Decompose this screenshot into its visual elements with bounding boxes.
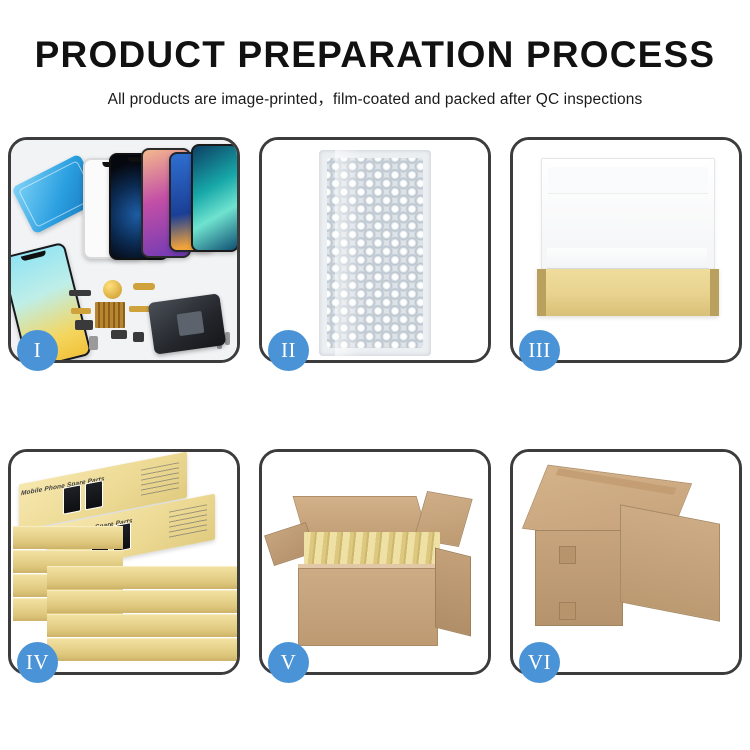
process-step-card-2: II <box>259 137 491 363</box>
step-badge-1: I <box>17 330 58 371</box>
scene-phone-screens-and-parts <box>11 140 237 360</box>
step-badge-2: II <box>268 330 309 371</box>
retail-box-side <box>47 638 237 661</box>
carton-side-panel <box>435 548 471 637</box>
spare-part-camera <box>111 330 127 339</box>
process-step-card-4: Mobile Phone Spare Parts Mobile Phone Sp… <box>8 449 240 675</box>
kraft-box-left-edge <box>537 269 546 316</box>
process-step-card-1: I <box>8 137 240 363</box>
retail-box-spec-lines <box>169 504 207 539</box>
spare-part-ic-grid <box>95 302 125 328</box>
spare-part-button <box>89 336 98 350</box>
process-step-card-5: V <box>259 449 491 675</box>
retail-box-side <box>47 566 237 589</box>
carton-handle-tab <box>559 546 576 564</box>
carton-right-panel <box>620 504 720 621</box>
carton-flap-back <box>293 496 428 534</box>
step-2-image <box>262 140 488 360</box>
retail-box-side <box>47 590 237 613</box>
step-5-image <box>262 452 488 672</box>
spare-part-speaker <box>133 332 144 342</box>
process-steps-grid: I II <box>8 137 742 675</box>
spare-part-ribbon <box>71 308 91 314</box>
carton-handle-tab <box>559 602 576 620</box>
retail-box-side <box>13 526 123 549</box>
step-badge-3: III <box>519 330 560 371</box>
scene-open-box-with-bubble-wrap <box>513 140 739 360</box>
carton-front-panel <box>298 568 438 646</box>
spare-part-connector <box>69 290 91 296</box>
process-step-card-6: VI <box>510 449 742 675</box>
product-preparation-infographic: PRODUCT PREPARATION PROCESS All products… <box>0 0 750 750</box>
process-step-card-3: III <box>510 137 742 363</box>
step-3-image <box>513 140 739 360</box>
scene-bubble-wrapped-product <box>262 140 488 360</box>
kraft-box-right-edge <box>710 269 719 316</box>
kraft-box-front-panel <box>537 294 719 316</box>
retail-box-spec-lines <box>141 462 179 497</box>
spare-part-module <box>75 320 93 330</box>
notch-icon <box>21 251 46 262</box>
page-subtitle: All products are image-printed，film-coat… <box>0 76 750 109</box>
bubble-wrapped-package <box>319 150 431 356</box>
page-title: PRODUCT PREPARATION PROCESS <box>0 0 750 76</box>
plastic-sheen <box>335 150 362 356</box>
header: PRODUCT PREPARATION PROCESS All products… <box>0 0 750 109</box>
step-badge-6: VI <box>519 642 560 683</box>
spare-part-gold-coil <box>103 280 122 299</box>
scene-stacked-retail-boxes: Mobile Phone Spare Parts Mobile Phone Sp… <box>11 452 237 672</box>
step-6-image <box>513 452 739 672</box>
retail-box-side <box>47 614 237 637</box>
step-badge-4: IV <box>17 642 58 683</box>
retail-box-stack: Mobile Phone Spare Parts Mobile Phone Sp… <box>13 466 237 664</box>
carton-front-panel <box>535 530 623 626</box>
teal-wave-phone <box>191 144 237 252</box>
retail-box-product-photo <box>85 480 103 510</box>
step-badge-5: V <box>268 642 309 683</box>
step-4-image: Mobile Phone Spare Parts Mobile Phone Sp… <box>11 452 237 672</box>
spare-part-flex-cable <box>133 283 155 290</box>
step-1-image <box>11 140 237 360</box>
scene-sealed-shipping-carton <box>513 452 739 672</box>
spare-part-screw <box>225 332 230 345</box>
scene-open-shipping-carton <box>262 452 488 672</box>
phone-back-housing <box>148 293 227 355</box>
